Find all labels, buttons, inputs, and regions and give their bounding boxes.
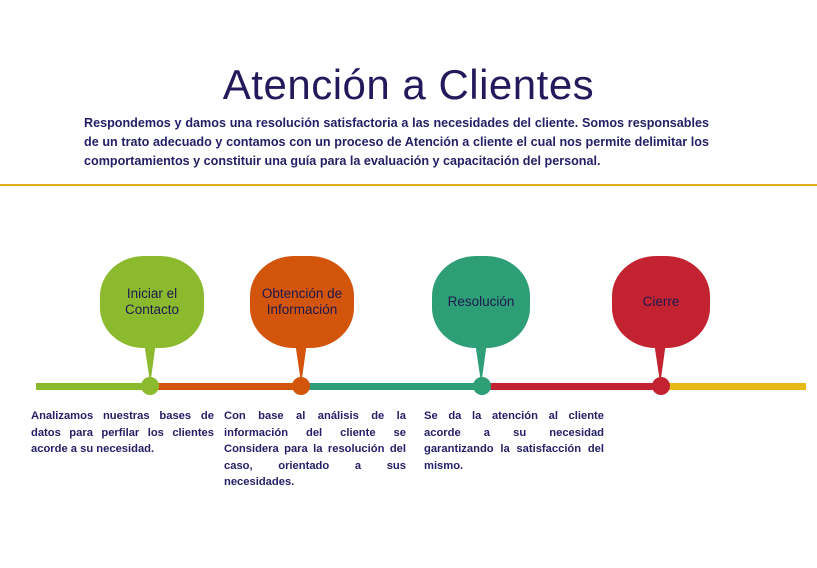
process-timeline: Iniciar el ContactoObtención de Informac…	[0, 230, 817, 568]
balloon-label-resolucion: Resolución	[445, 294, 518, 310]
segment-teal	[306, 383, 491, 390]
dot-iniciar-contacto[interactable]	[141, 377, 159, 395]
balloon-iniciar-contacto[interactable]: Iniciar el Contacto	[100, 256, 204, 348]
segment-green	[36, 383, 150, 390]
segment-yellow	[667, 383, 806, 390]
segment-orange	[150, 383, 306, 390]
segment-red	[491, 383, 667, 390]
dot-obtencion-informacion[interactable]	[292, 377, 310, 395]
intro-paragraph: Respondemos y damos una resolución satis…	[84, 114, 709, 171]
balloon-cierre[interactable]: Cierre	[612, 256, 710, 348]
dot-resolucion[interactable]	[473, 377, 491, 395]
balloon-label-obtencion-informacion: Obtención de Información	[250, 286, 354, 319]
balloon-label-cierre: Cierre	[640, 294, 683, 310]
page-title: Atención a Clientes	[0, 62, 817, 108]
balloon-label-iniciar-contacto: Iniciar el Contacto	[100, 286, 204, 319]
dot-cierre[interactable]	[652, 377, 670, 395]
balloon-resolucion[interactable]: Resolución	[432, 256, 530, 348]
balloon-obtencion-informacion[interactable]: Obtención de Información	[250, 256, 354, 348]
caption-obtencion-informacion: Con base al análisis de la información d…	[224, 408, 406, 491]
caption-iniciar-contacto: Analizamos nuestras bases de datos para …	[31, 408, 214, 458]
header-divider	[0, 184, 817, 186]
caption-resolucion: Se da la atención al cliente acorde a su…	[424, 408, 604, 474]
